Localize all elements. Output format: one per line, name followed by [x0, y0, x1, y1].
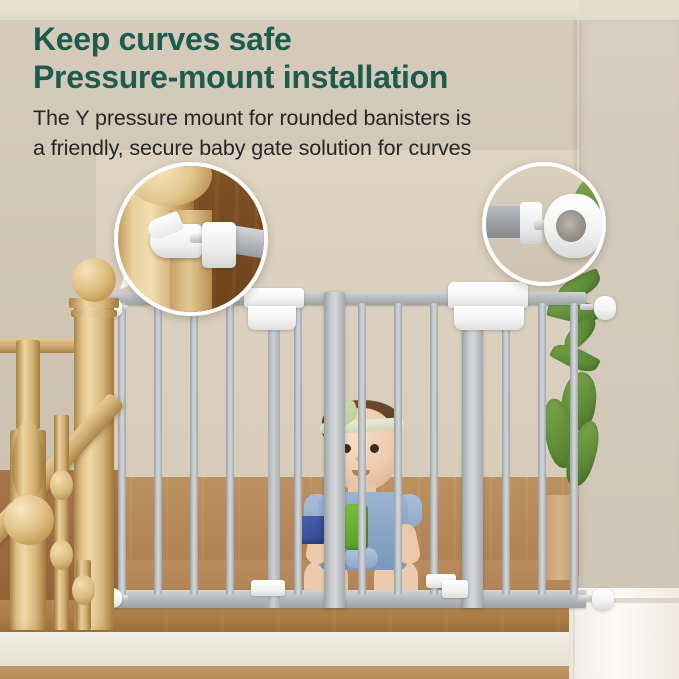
mount-stem [578, 595, 592, 601]
subcopy-line-1: The Y pressure mount for rounded baniste… [33, 106, 471, 130]
right-wall-top [579, 0, 679, 22]
wall-pressure-mount-cup [594, 296, 616, 320]
baluster-turning [50, 540, 73, 570]
gate-bar [502, 303, 510, 595]
callout-gate-post [500, 236, 512, 282]
pressure-cup-inner [556, 210, 586, 242]
baby-safety-gate [96, 292, 586, 610]
baluster-turning [50, 470, 73, 500]
subcopy: The Y pressure mount for rounded baniste… [33, 103, 653, 163]
mount-stem [580, 304, 594, 310]
gate-bar [358, 303, 366, 595]
ceiling-band [0, 0, 679, 22]
gate-latch-housing [448, 282, 528, 308]
gate-latch-stile [462, 292, 483, 608]
product-lifestyle-image: Keep curves safe Pressure-mount installa… [0, 0, 679, 679]
gate-bar [154, 303, 162, 595]
gate-bar [294, 303, 302, 595]
headline-line-2: Pressure-mount installation [33, 58, 653, 96]
gate-panel-divider [268, 292, 280, 608]
headline-line-1: Keep curves safe [33, 21, 291, 57]
marketing-copy: Keep curves safe Pressure-mount installa… [33, 20, 653, 163]
gate-latch-housing-body [454, 306, 524, 330]
callout-y-pressure-mount [114, 162, 268, 316]
gate-bottom-pad [442, 580, 468, 598]
newel-ball-finial [72, 258, 116, 302]
baluster-upper [16, 340, 40, 430]
gate-hinge-stile [324, 292, 345, 608]
gate-bar [226, 303, 234, 595]
gate-bar [430, 303, 438, 595]
baseboard-trim [573, 588, 679, 679]
gate-bar [118, 303, 126, 595]
callout-wall-pressure-cup [482, 162, 606, 286]
gate-bar [538, 303, 546, 595]
baluster-turning [72, 575, 95, 605]
wall-pressure-mount-cup [592, 588, 614, 610]
newel-ball-finial-lower [4, 495, 54, 545]
callout-gate-cap [202, 222, 236, 268]
gate-bar [394, 303, 402, 595]
newel-collar [71, 310, 117, 317]
headline: Keep curves safe Pressure-mount installa… [33, 20, 653, 96]
subcopy-line-2: a friendly, secure baby gate solution fo… [33, 133, 653, 163]
gate-bottom-pad [251, 580, 285, 596]
baluster [54, 415, 69, 630]
gate-bar [570, 303, 578, 595]
gate-bar [190, 303, 198, 595]
